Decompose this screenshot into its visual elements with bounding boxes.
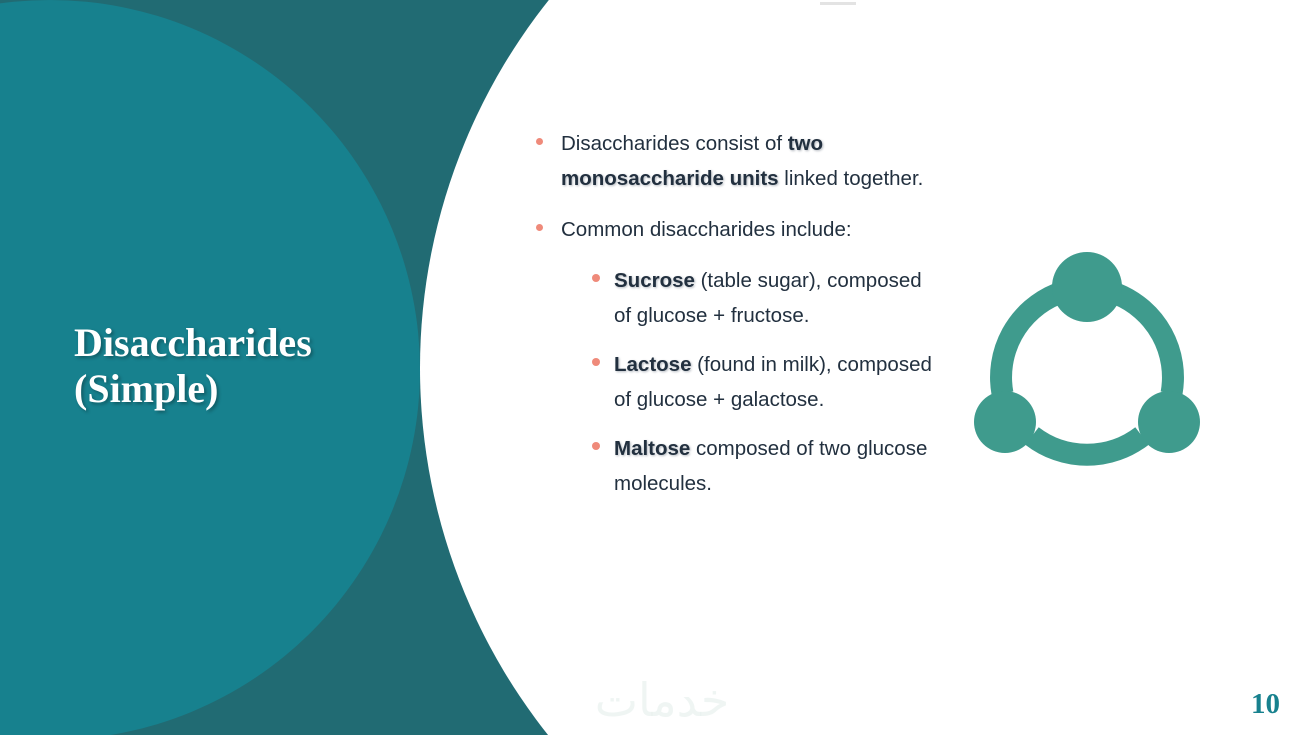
sub-bullet-item: Sucrose (table sugar), composed of gluco… <box>592 263 936 333</box>
node-bottom-right <box>1138 391 1200 453</box>
bullet-text-plain: Common disaccharides include: <box>561 218 852 241</box>
slide-title-line-1: Disaccharides <box>74 320 404 366</box>
bullet-text-strong: Sucrose <box>614 269 695 292</box>
bullet-dot-icon <box>592 274 600 282</box>
sub-bullet-item: Maltose composed of two glucose molecule… <box>592 431 936 501</box>
slide-title: Disaccharides (Simple) <box>74 320 404 412</box>
bullet-text: Sucrose (table sugar), composed of gluco… <box>614 263 936 333</box>
slide-title-line-2: (Simple) <box>74 366 404 412</box>
bullet-dot-icon <box>592 358 600 366</box>
bullet-dot-icon <box>592 442 600 450</box>
bullet-item: Common disaccharides include: <box>536 212 936 247</box>
bullet-text: Common disaccharides include: <box>561 212 852 247</box>
node-bottom-left <box>974 391 1036 453</box>
bullet-text-plain: linked together. <box>779 167 924 190</box>
bullet-text-plain: Disaccharides consist of <box>561 132 788 155</box>
bullet-list: Disaccharides consist of two monosacchar… <box>536 126 936 515</box>
page-number: 10 <box>1251 688 1280 721</box>
bullet-dot-icon <box>536 138 543 145</box>
bullet-text: Lactose (found in milk), composed of glu… <box>614 347 936 417</box>
slide-canvas: Disaccharides (Simple) Disaccharides con… <box>0 0 1302 735</box>
bullet-dot-icon <box>536 224 543 231</box>
top-edge-artifact <box>820 2 856 5</box>
sub-bullet-item: Lactose (found in milk), composed of glu… <box>592 347 936 417</box>
three-node-cycle-icon <box>972 252 1202 482</box>
node-top <box>1052 252 1122 322</box>
bullet-item: Disaccharides consist of two monosacchar… <box>536 126 936 196</box>
bullet-text: Maltose composed of two glucose molecule… <box>614 431 936 501</box>
bullet-text: Disaccharides consist of two monosacchar… <box>561 126 936 196</box>
watermark-text: خدمات <box>562 672 762 728</box>
bullet-text-strong: Lactose <box>614 353 691 376</box>
bullet-text-strong: Maltose <box>614 437 690 460</box>
